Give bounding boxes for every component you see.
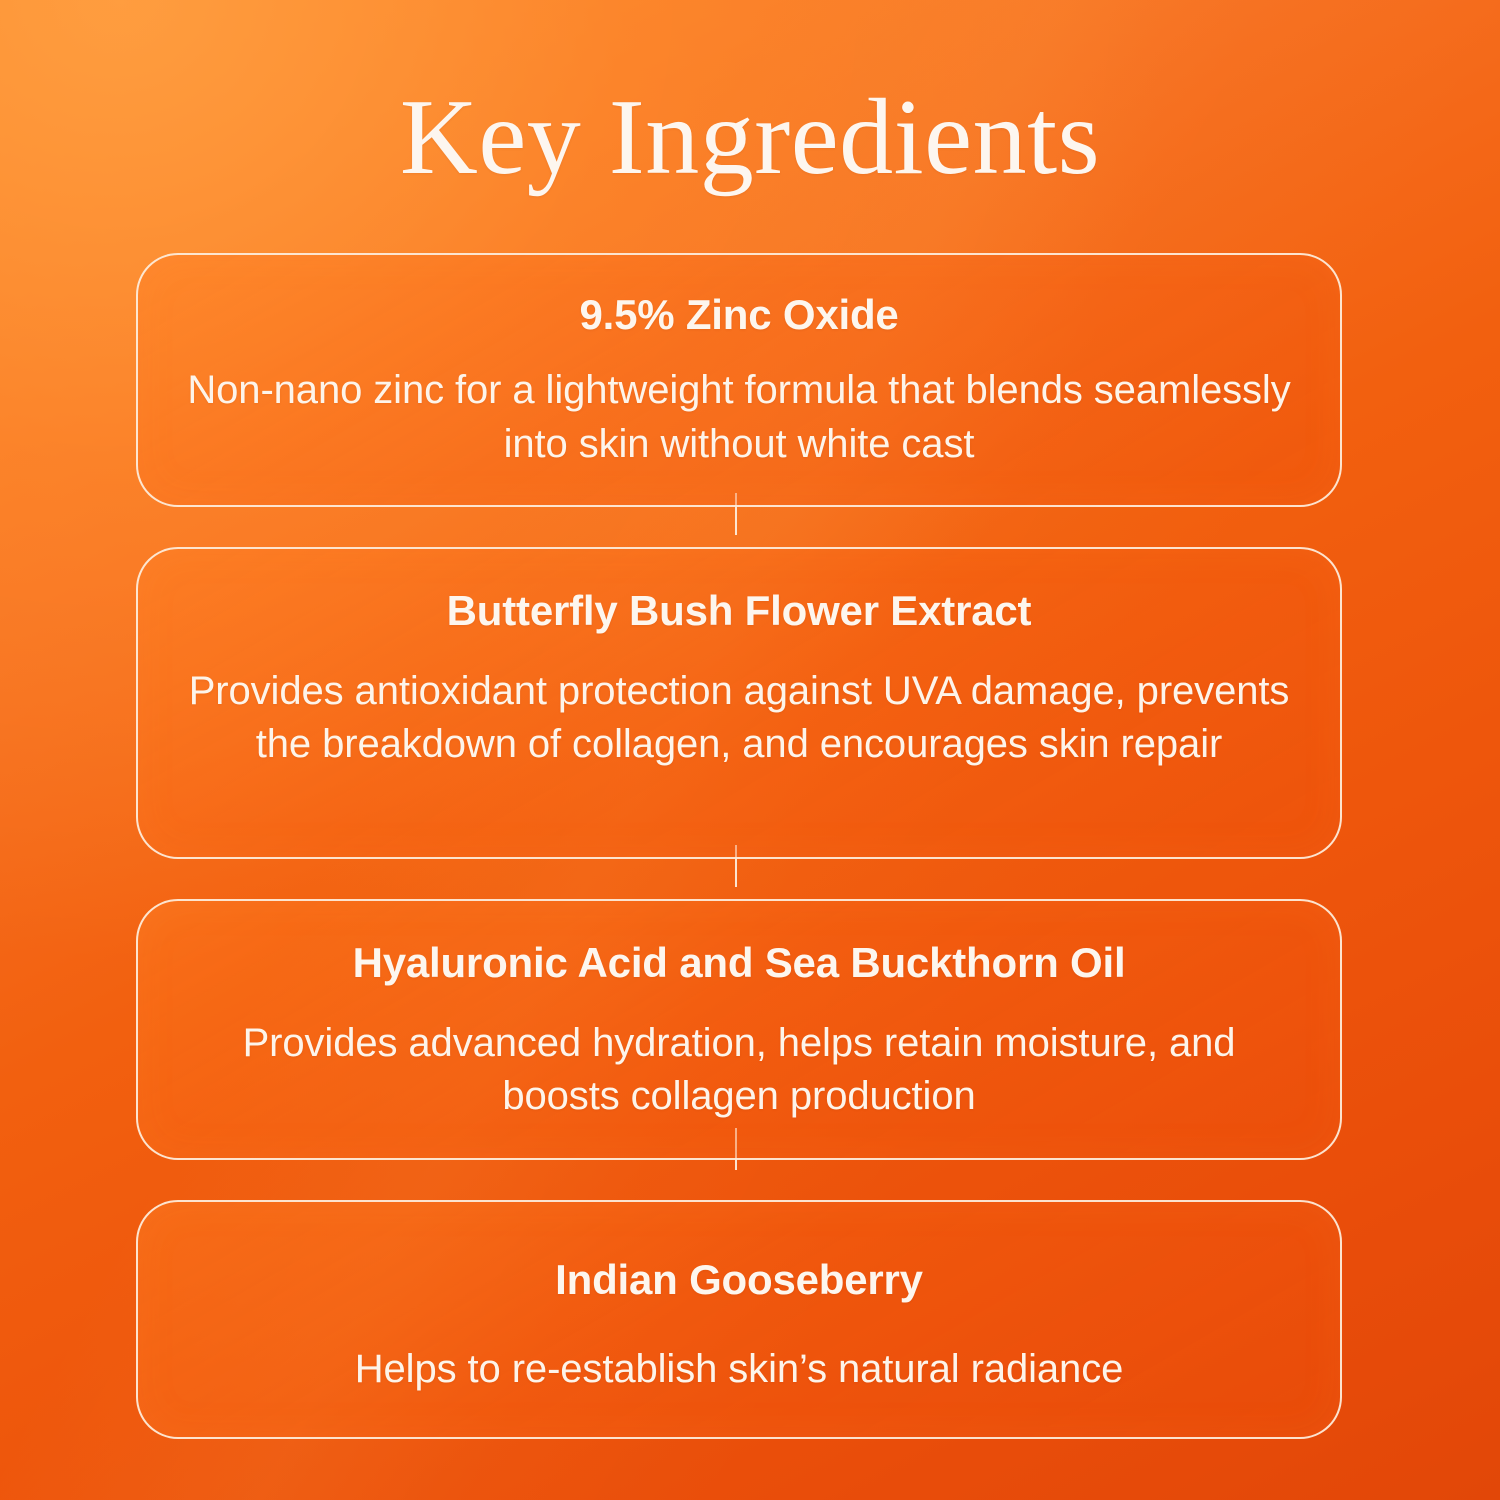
ingredient-title: Indian Gooseberry [180, 1254, 1298, 1305]
ingredient-description: Provides advanced hydration, helps retai… [180, 1017, 1298, 1124]
ingredient-card-zinc-oxide[interactable]: 9.5% Zinc Oxide Non-nano zinc for a ligh… [136, 253, 1342, 507]
ingredient-card-hyaluronic-acid-sea-buckthorn-oil[interactable]: Hyaluronic Acid and Sea Buckthorn Oil Pr… [136, 899, 1342, 1159]
ingredient-description: Non-nano zinc for a lightweight formula … [180, 364, 1298, 471]
ingredient-card-butterfly-bush-flower-extract[interactable]: Butterfly Bush Flower Extract Provides a… [136, 547, 1342, 859]
ingredient-title: Hyaluronic Acid and Sea Buckthorn Oil [180, 937, 1298, 988]
ingredient-card-indian-gooseberry[interactable]: Indian Gooseberry Helps to re-establish … [136, 1200, 1342, 1439]
ingredient-description: Provides antioxidant protection against … [180, 665, 1298, 772]
ingredient-card-stack: 9.5% Zinc Oxide Non-nano zinc for a ligh… [136, 253, 1342, 1439]
page-title: Key Ingredients [0, 74, 1500, 201]
key-ingredients-graphic: Key Ingredients 9.5% Zinc Oxide Non-nano… [0, 0, 1500, 1500]
ingredient-title: 9.5% Zinc Oxide [180, 289, 1298, 340]
ingredient-description: Helps to re-establish skin’s natural rad… [180, 1343, 1298, 1397]
ingredient-title: Butterfly Bush Flower Extract [180, 585, 1298, 636]
